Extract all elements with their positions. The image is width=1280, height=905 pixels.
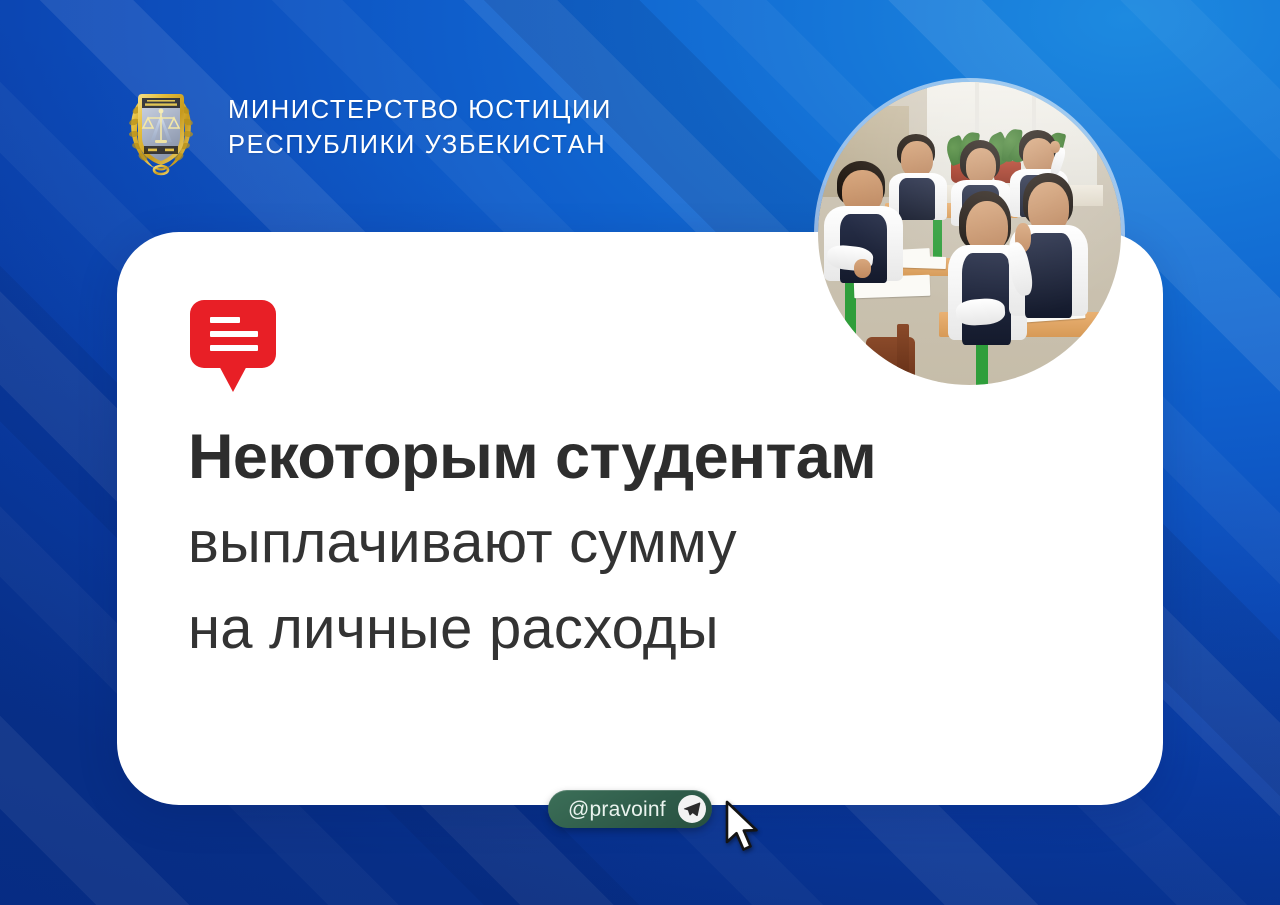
headline-block: Некоторым студентам выплачивают сумму на… xyxy=(188,414,1118,672)
headline-line-2: выплачивают сумму xyxy=(188,500,1118,586)
telegram-icon[interactable] xyxy=(678,795,706,823)
ministry-header: МИНИСТЕРСТВО ЮСТИЦИИРЕСПУБЛИКИ УЗБЕКИСТА… xyxy=(120,80,612,176)
classroom-photo-avatar xyxy=(818,82,1121,385)
classroom-photo-illustration xyxy=(818,82,1121,385)
ministry-title-line-1: МИНИСТЕРСТВО ЮСТИЦИИ xyxy=(228,96,612,124)
coat-of-arms-icon xyxy=(120,80,202,176)
telegram-handle-badge[interactable]: @pravoinf xyxy=(548,790,712,828)
headline-line-3: на личные расходы xyxy=(188,586,1118,672)
poster-canvas: МИНИСТЕРСТВО ЮСТИЦИИРЕСПУБЛИКИ УЗБЕКИСТА… xyxy=(0,0,1280,905)
announcement-speech-bubble-icon xyxy=(190,300,276,404)
ministry-title-line-2: РЕСПУБЛИКИ УЗБЕКИСТАН xyxy=(228,131,606,159)
headline-line-1: Некоторым студентам xyxy=(188,414,1118,500)
ministry-title: МИНИСТЕРСТВО ЮСТИЦИИРЕСПУБЛИКИ УЗБЕКИСТА… xyxy=(228,93,612,163)
telegram-handle-label: @pravoinf xyxy=(568,799,666,820)
mouse-pointer-cursor xyxy=(723,800,763,854)
